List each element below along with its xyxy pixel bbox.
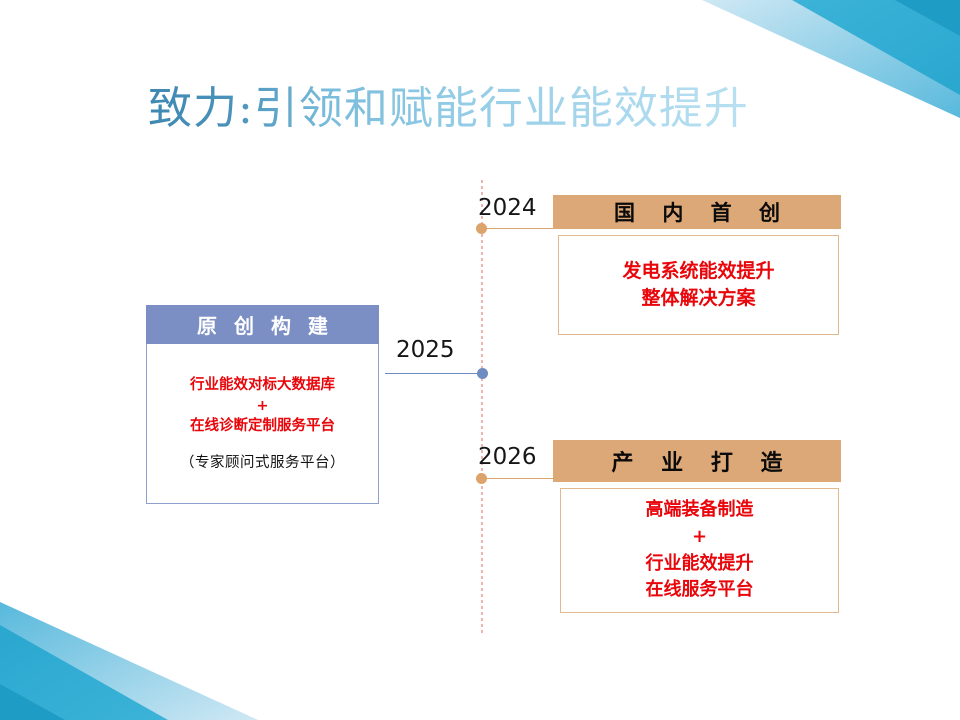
timeline-node-2025[interactable] [477, 368, 488, 379]
card-original-construction-note: （专家顾问式服务平台） [180, 451, 345, 472]
card-domestic-first-body: 发电系统能效提升 整体解决方案 [558, 235, 839, 335]
timeline-axis [481, 180, 483, 635]
card-domestic-first-text: 发电系统能效提升 整体解决方案 [622, 258, 774, 312]
connector-2024 [481, 228, 555, 229]
page-title: 致力:引领和赋能行业能效提升 [148, 72, 749, 136]
connector-2026 [481, 478, 555, 479]
year-label-2026: 2026 [478, 444, 537, 470]
timeline-node-2026[interactable] [476, 473, 487, 484]
card-domestic-first[interactable]: 国 内 首 创 发电系统能效提升 整体解决方案 [553, 195, 841, 335]
year-label-2025: 2025 [396, 337, 455, 363]
card-original-construction[interactable]: 原 创 构 建 行业能效对标大数据库 + 在线诊断定制服务平台 （专家顾问式服务… [146, 305, 379, 504]
card-industry-building-text: 高端装备制造 + 行业能效提升 在线服务平台 [646, 497, 754, 604]
bottom-left-decoration [0, 590, 300, 720]
card-industry-building-body: 高端装备制造 + 行业能效提升 在线服务平台 [560, 488, 839, 613]
card-original-construction-body: 行业能效对标大数据库 + 在线诊断定制服务平台 （专家顾问式服务平台） [146, 344, 379, 504]
card-industry-building-header: 产 业 打 造 [553, 440, 841, 482]
card-original-construction-header: 原 创 构 建 [146, 305, 379, 344]
year-label-2024: 2024 [478, 195, 537, 221]
slide-canvas: 致力:引领和赋能行业能效提升 2024 2025 2026 原 创 构 建 行业… [0, 0, 960, 720]
card-original-construction-highlight: 行业能效对标大数据库 + 在线诊断定制服务平台 [190, 375, 335, 437]
card-domestic-first-header: 国 内 首 创 [553, 195, 841, 229]
connector-2025 [385, 373, 482, 374]
timeline-node-2024[interactable] [476, 223, 487, 234]
card-industry-building[interactable]: 产 业 打 造 高端装备制造 + 行业能效提升 在线服务平台 [553, 440, 841, 613]
